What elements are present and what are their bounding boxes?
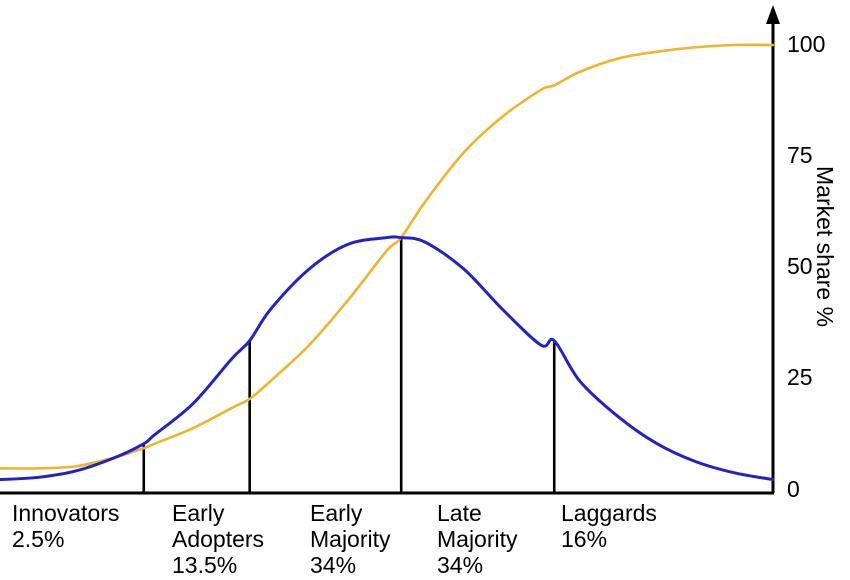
chart-canvas — [0, 0, 850, 580]
y-tick-label-0: 0 — [787, 478, 800, 501]
diffusion-of-innovations-chart: 100 75 50 25 0 Market share % Innovators… — [0, 0, 850, 580]
category-label-early-adopters-line2: Adopters — [172, 526, 264, 552]
adoption-bell-curve — [0, 237, 773, 480]
category-label-late-majority-line2: Majority — [437, 526, 518, 552]
y-tick-label-50: 50 — [787, 255, 813, 278]
category-label-laggards-line1: Laggards — [561, 500, 657, 526]
y-tick-label-100: 100 — [787, 33, 825, 56]
category-divider-group — [144, 238, 554, 493]
category-label-innovators-line2: 2.5% — [12, 526, 119, 552]
category-label-early-majority-line1: Early — [310, 500, 391, 526]
category-label-early-adopters-line1: Early — [172, 500, 264, 526]
category-label-early-majority-line2: Majority — [310, 526, 391, 552]
category-label-late-majority: Late Majority 34% — [437, 500, 518, 578]
category-label-late-majority-line3: 34% — [437, 552, 518, 578]
cumulative-s-curve — [0, 45, 773, 469]
y-tick-label-25: 25 — [787, 366, 813, 389]
y-axis-title: Market share % — [811, 166, 838, 327]
category-label-early-adopters-line3: 13.5% — [172, 552, 264, 578]
category-label-innovators-line1: Innovators — [12, 500, 119, 526]
category-label-early-majority-line3: 34% — [310, 552, 391, 578]
category-label-early-majority: Early Majority 34% — [310, 500, 391, 578]
category-label-laggards: Laggards 16% — [561, 500, 657, 552]
category-label-innovators: Innovators 2.5% — [12, 500, 119, 552]
category-label-late-majority-line1: Late — [437, 500, 518, 526]
y-axis-arrow-icon — [766, 5, 780, 24]
category-label-early-adopters: Early Adopters 13.5% — [172, 500, 264, 578]
category-label-laggards-line2: 16% — [561, 526, 657, 552]
y-tick-label-75: 75 — [787, 144, 813, 167]
